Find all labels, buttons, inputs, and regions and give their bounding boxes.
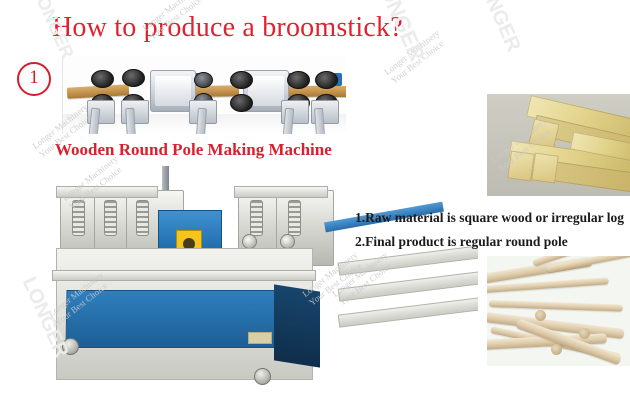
pole-end-grain	[579, 328, 590, 339]
wood-plank-end-grain	[531, 152, 559, 183]
pole-end-grain	[551, 344, 562, 355]
step-number-badge: 1	[17, 62, 51, 96]
tension-spring	[288, 200, 301, 236]
caster-wheel	[62, 338, 79, 355]
roller-wheel	[91, 70, 114, 88]
spec-plate	[248, 332, 272, 344]
roller-wheel	[287, 71, 310, 89]
square-wood-photo: Longer Machinery Your Best Choice	[487, 94, 630, 196]
roller-wheel	[194, 72, 213, 88]
blue-base-side	[274, 284, 320, 367]
support-leg	[196, 108, 207, 134]
tension-spring	[104, 200, 117, 236]
tension-spring	[136, 200, 149, 236]
caster-wheel	[254, 368, 271, 385]
roller-wheel	[230, 71, 253, 89]
feature-item-2: 2.Final product is regular round pole	[355, 230, 630, 254]
pole-end-grain	[535, 310, 546, 321]
cross-plate	[56, 186, 158, 198]
cross-plate	[234, 186, 328, 198]
round-pole	[489, 300, 623, 312]
feature-list: 1.Raw material is square wood or irregul…	[355, 206, 630, 254]
tension-spring	[72, 200, 85, 236]
roller-assembly-photo	[62, 56, 346, 134]
roller-wheel	[315, 71, 338, 89]
roller-wheel	[230, 94, 253, 112]
round-poles-photo: Longer Machinery Your Best Choice	[487, 256, 630, 366]
main-machine-photo: LONGER Machinery	[38, 160, 478, 400]
panel-one-caption: Wooden Round Pole Making Machine	[55, 140, 375, 160]
adjust-knob	[280, 234, 295, 249]
tension-spring	[250, 200, 263, 236]
page-title: How to produce a broomstick?	[52, 8, 472, 48]
support-leg	[314, 108, 325, 134]
roller-wheel	[122, 69, 145, 87]
support-leg	[125, 108, 135, 134]
brand-watermark-rotated: LONGER	[469, 0, 525, 55]
adjust-knob	[242, 234, 257, 249]
poster-canvas: How to produce a broomstick? 1	[0, 0, 630, 400]
bed-rail	[52, 270, 316, 281]
outfeed-rail	[338, 254, 478, 350]
feature-item-1: 1.Raw material is square wood or irregul…	[355, 206, 630, 230]
